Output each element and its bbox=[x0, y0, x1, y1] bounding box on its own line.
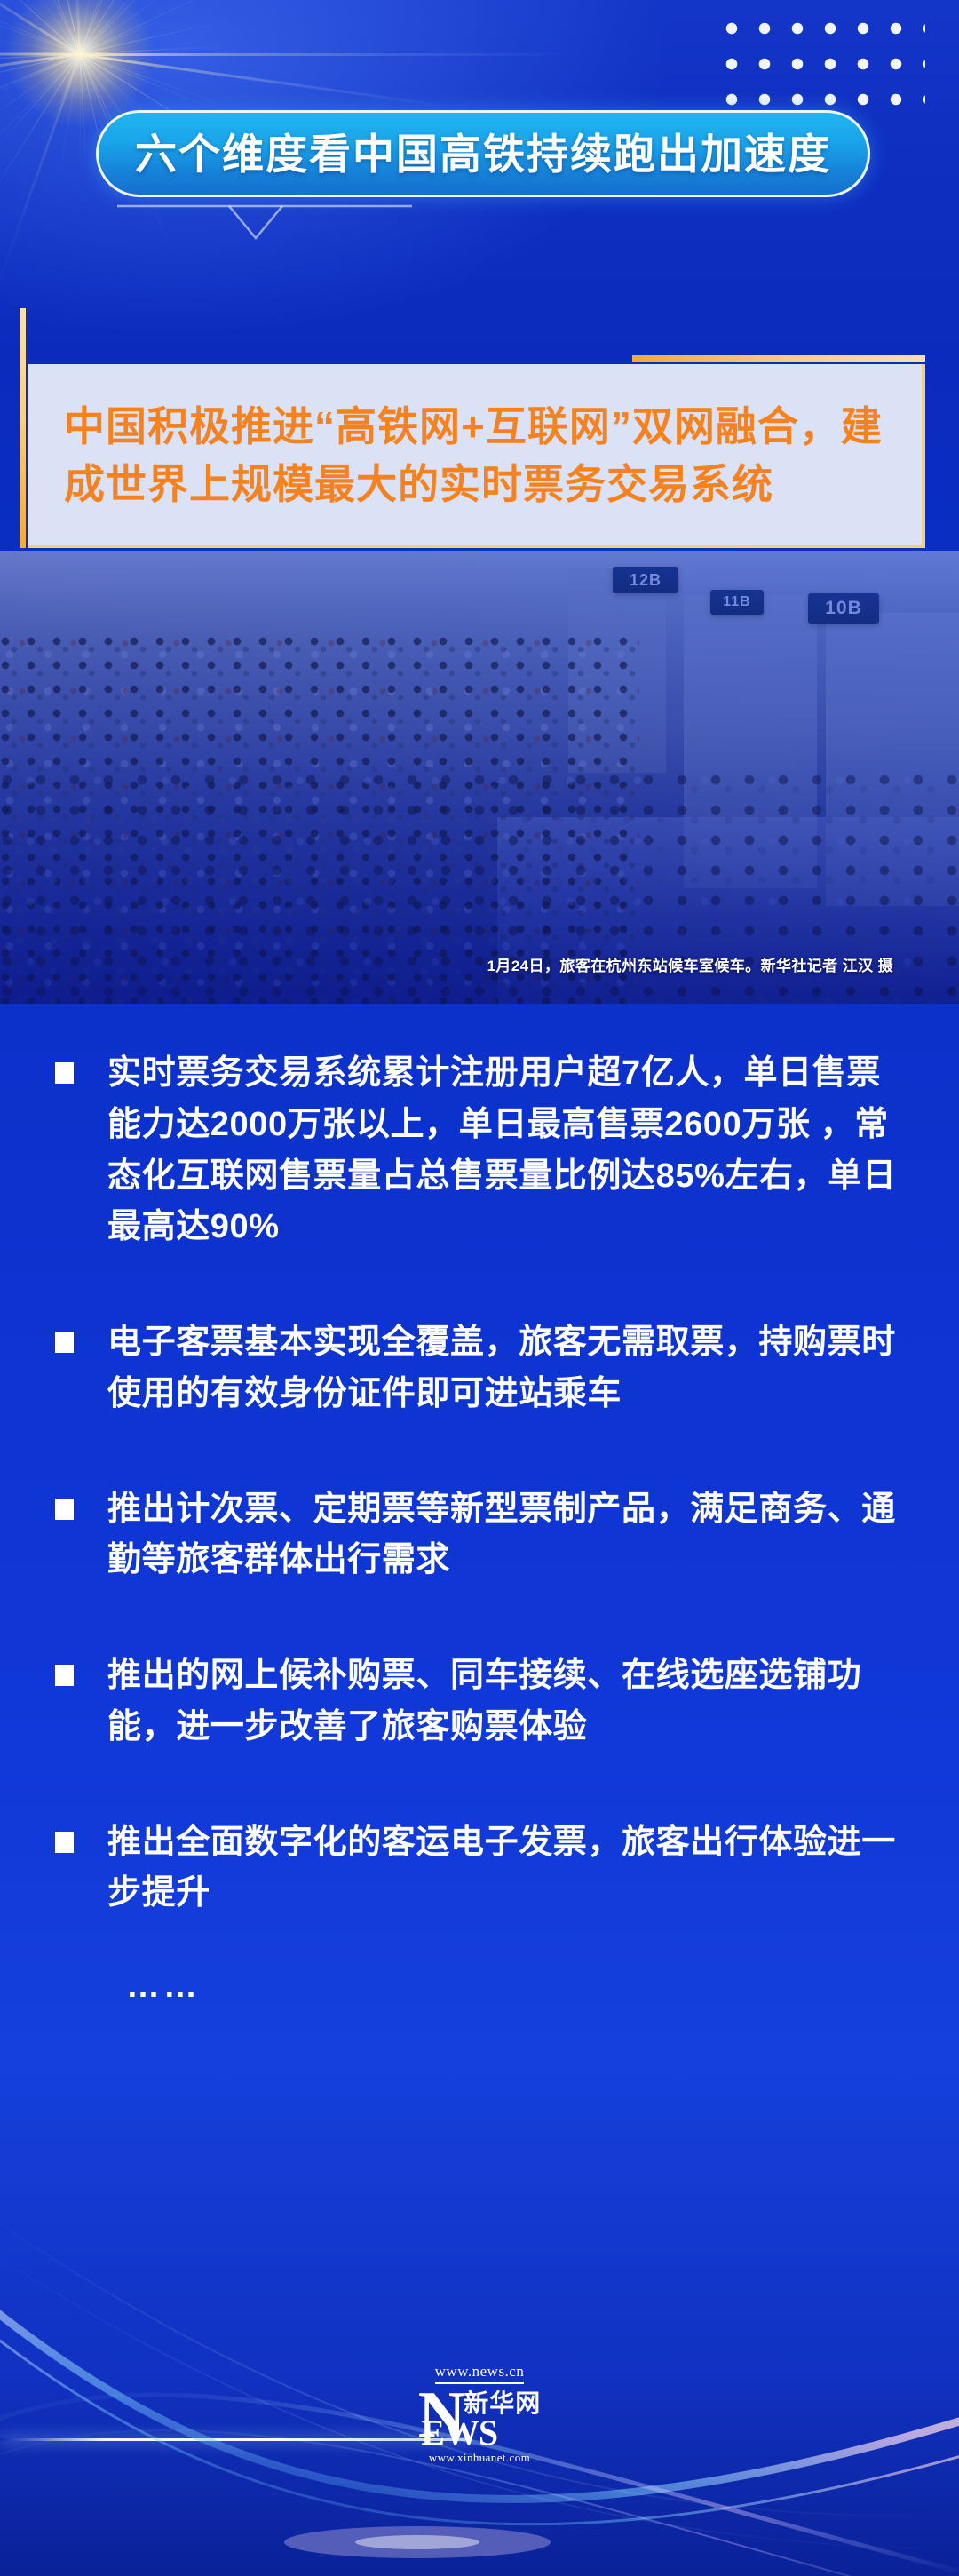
square-bullet-icon bbox=[55, 1332, 74, 1353]
starburst-ray bbox=[0, 53, 80, 205]
starburst-ray bbox=[0, 53, 80, 94]
bullet-text: 推出计次票、定期票等新型票制产品，满足商务、通勤等旅客群体出行需求 bbox=[107, 1484, 907, 1587]
starburst-ray bbox=[80, 53, 226, 56]
list-item: 推出全面数字化的客运电子发票，旅客出行体验进一步提升 bbox=[55, 1817, 907, 1920]
starburst-ray bbox=[79, 0, 99, 54]
photo-blue-overlay bbox=[0, 551, 959, 1004]
logo-url-bottom: www.xinhuanet.com bbox=[429, 2451, 530, 2465]
bullet-text: 推出的网上候补购票、同车接续、在线选座选铺功能，进一步改善了旅客购票体验 bbox=[107, 1650, 907, 1753]
starburst-ray bbox=[80, 45, 231, 54]
starburst-ray bbox=[12, 0, 81, 54]
photo-caption: 1月24日，旅客在杭州东站候车室候车。新华社记者 江汉 摄 bbox=[487, 953, 893, 975]
starburst-ray bbox=[0, 53, 80, 101]
logo-right-stack: 新华网 EWS bbox=[464, 2388, 541, 2448]
dot-grid-decoration bbox=[723, 20, 925, 112]
square-bullet-icon bbox=[55, 1062, 74, 1084]
starburst-ray bbox=[80, 20, 228, 54]
logo-letters-ews: EWS bbox=[421, 2418, 541, 2448]
list-item: 实时票务交易系统累计注册用户超7亿人，单日售票能力达2000万张以上，单日最高售… bbox=[55, 1048, 907, 1253]
logo-chinese-name: 新华网 bbox=[464, 2393, 541, 2414]
square-bullet-icon bbox=[55, 1499, 74, 1520]
starburst-ray bbox=[79, 0, 152, 54]
starburst-ray bbox=[0, 53, 81, 98]
starburst-flare bbox=[0, 53, 80, 86]
starburst-ray bbox=[80, 53, 252, 115]
starburst-flare bbox=[0, 53, 80, 56]
gold-accent-left bbox=[20, 308, 26, 548]
starburst-ray bbox=[0, 0, 81, 54]
starburst-ray bbox=[79, 0, 80, 54]
starburst-ray bbox=[0, 2, 80, 55]
list-item: 电子客票基本实现全覆盖，旅客无需取票，持购票时使用的有效身份证件即可进站乘车 bbox=[55, 1317, 907, 1420]
starburst-ray bbox=[0, 53, 81, 146]
infographic-poster: 六个维度看中国高铁持续跑出加速度 12B 11B 10B 1月24日，旅客在杭州… bbox=[0, 0, 959, 2576]
starburst-ray bbox=[0, 53, 81, 220]
bullet-text: 推出全面数字化的客运电子发票，旅客出行体验进一步提升 bbox=[107, 1817, 907, 1920]
starburst-flare bbox=[80, 53, 458, 108]
title-banner: 六个维度看中国高铁持续跑出加速度 bbox=[96, 110, 870, 197]
starburst-ray bbox=[80, 53, 215, 110]
starburst-ray bbox=[74, 0, 81, 55]
starburst-ray bbox=[0, 0, 80, 54]
headline-text: 中国积极推进“高铁网+互联网”双网融合，建成世界上规模最大的实时票务交易系统 bbox=[64, 398, 884, 514]
starburst-ray bbox=[80, 0, 210, 54]
page-title: 六个维度看中国高铁持续跑出加速度 bbox=[135, 133, 831, 175]
headline-card: 中国积极推进“高铁网+互联网”双网融合，建成世界上规模最大的实时票务交易系统 bbox=[28, 364, 925, 548]
starburst-ray bbox=[79, 54, 80, 223]
list-item: 推出计次票、定期票等新型票制产品，满足商务、通勤等旅客群体出行需求 bbox=[55, 1484, 907, 1587]
bullet-list: 实时票务交易系统累计注册用户超7亿人，单日售票能力达2000万张以上，单日最高售… bbox=[0, 1048, 959, 2006]
starburst-ray bbox=[58, 54, 81, 182]
starburst-ray bbox=[0, 36, 80, 54]
starburst-ray bbox=[0, 53, 80, 54]
starburst-ray bbox=[0, 54, 81, 297]
starburst-ray bbox=[17, 0, 81, 54]
starburst-ray bbox=[80, 19, 164, 54]
starburst-ray bbox=[80, 0, 266, 54]
starburst-ray bbox=[0, 5, 80, 55]
starburst-ray bbox=[79, 0, 150, 54]
station-photo: 12B 11B 10B 1月24日，旅客在杭州东站候车室候车。新华社记者 江汉 … bbox=[0, 551, 959, 1004]
starburst-flare bbox=[80, 53, 577, 56]
starburst-ray bbox=[21, 0, 81, 54]
title-tail-decoration bbox=[115, 203, 412, 240]
bullet-text: 实时票务交易系统累计注册用户超7亿人，单日售票能力达2000万张以上，单日最高售… bbox=[107, 1048, 907, 1253]
starburst-ray bbox=[79, 54, 86, 167]
bullet-text: 电子客票基本实现全覆盖，旅客无需取票，持购票时使用的有效身份证件即可进站乘车 bbox=[107, 1317, 907, 1420]
xinhua-footer-logo: www.news.cn N 新华网 EWS www.xinhuanet.com bbox=[0, 2363, 959, 2465]
starburst-ray bbox=[0, 53, 80, 63]
starburst-ray bbox=[80, 53, 203, 76]
square-bullet-icon bbox=[55, 1665, 74, 1686]
starburst-ray bbox=[79, 0, 156, 54]
starburst-ray bbox=[41, 53, 80, 147]
list-item: 推出的网上候补购票、同车接续、在线选座选铺功能，进一步改善了旅客购票体验 bbox=[55, 1650, 907, 1753]
title-pill: 六个维度看中国高铁持续跑出加速度 bbox=[96, 110, 870, 197]
square-bullet-icon bbox=[55, 1832, 74, 1853]
list-ellipsis: …… bbox=[55, 1968, 907, 2006]
starburst-ray bbox=[79, 0, 166, 54]
starburst-ray bbox=[79, 0, 212, 56]
starburst-ray bbox=[0, 0, 80, 54]
starburst-ray bbox=[0, 53, 80, 157]
gold-accent-top bbox=[632, 355, 925, 362]
logo-mark: N 新华网 EWS bbox=[418, 2388, 541, 2448]
starburst-ray bbox=[0, 0, 81, 56]
